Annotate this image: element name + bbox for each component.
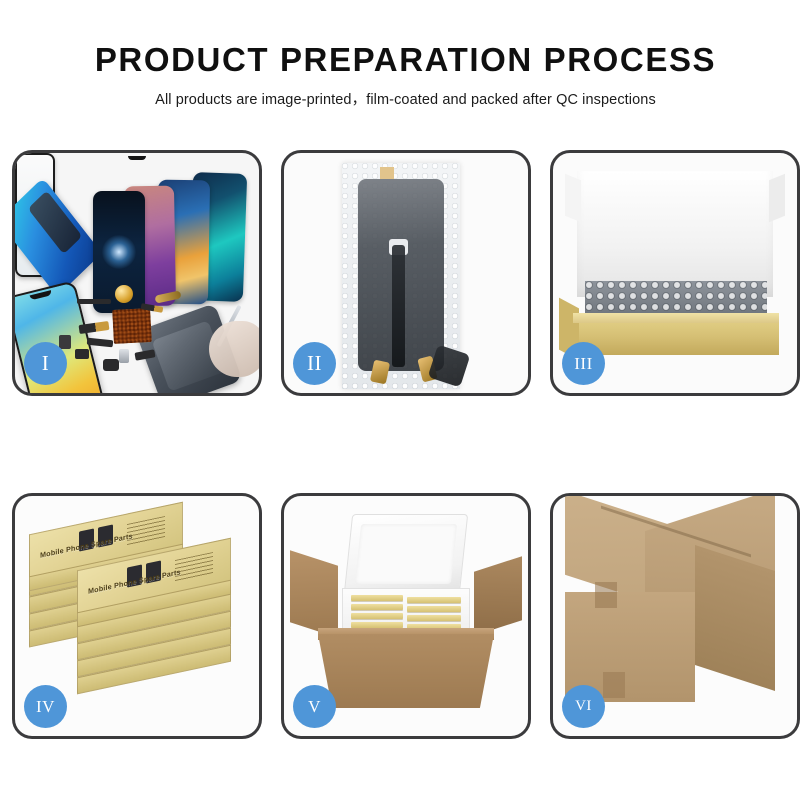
step-panel-5: V	[281, 493, 531, 739]
gold-component-icon	[115, 285, 133, 303]
phone-notch-icon	[128, 156, 146, 160]
step-panel-6: VI	[550, 493, 800, 739]
bag-seal-tab-icon	[380, 167, 394, 179]
page-subtitle: All products are image-printed，film-coat…	[0, 88, 811, 109]
step-badge-6: VI	[562, 685, 605, 728]
hand-icon	[209, 321, 259, 377]
packed-box-item	[351, 595, 403, 601]
step-badge-4: IV	[24, 685, 67, 728]
page-title: PRODUCT PREPARATION PROCESS	[0, 42, 811, 78]
small-part-icon	[59, 335, 71, 349]
small-part-icon	[103, 359, 119, 371]
packed-box-item	[407, 597, 461, 603]
foam-lid-icon	[344, 514, 468, 594]
step-panel-2: II	[281, 150, 531, 396]
packed-box-item	[351, 613, 403, 619]
carton-flap-left-icon	[290, 550, 338, 638]
step-badge-1: I	[24, 342, 67, 385]
step-badge-3: III	[562, 342, 605, 385]
small-part-icon	[75, 349, 89, 359]
packed-box-item	[407, 606, 461, 612]
step-panel-3: III	[550, 150, 800, 396]
box-stack: Mobile Phone Spare Parts Mobile Phone Sp…	[23, 514, 251, 714]
flex-cable-icon	[392, 245, 405, 367]
step-badge-2: II	[293, 342, 336, 385]
steps-grid: I II III	[12, 150, 800, 738]
box-lid-icon	[577, 171, 773, 297]
step-badge-5: V	[293, 685, 336, 728]
flex-cable-icon	[77, 299, 111, 304]
screen-protector-icon	[15, 178, 102, 297]
carton-tape-icon	[595, 582, 617, 608]
small-part-icon	[119, 349, 129, 363]
step-panel-1: I	[12, 150, 262, 396]
carton-tape-icon	[603, 672, 625, 698]
carton-body-icon	[318, 634, 494, 708]
product-preparation-infographic: PRODUCT PREPARATION PROCESS All products…	[0, 0, 811, 811]
copper-grid-component-icon	[112, 308, 152, 344]
header: PRODUCT PREPARATION PROCESS All products…	[0, 0, 811, 109]
step-panel-4: Mobile Phone Spare Parts Mobile Phone Sp…	[12, 493, 262, 739]
packed-box-item	[351, 604, 403, 610]
carton-right-face	[695, 545, 775, 691]
packed-box-item	[407, 615, 461, 621]
carton-flap-right-icon	[474, 556, 522, 636]
kraft-box-rim-icon	[573, 313, 779, 323]
